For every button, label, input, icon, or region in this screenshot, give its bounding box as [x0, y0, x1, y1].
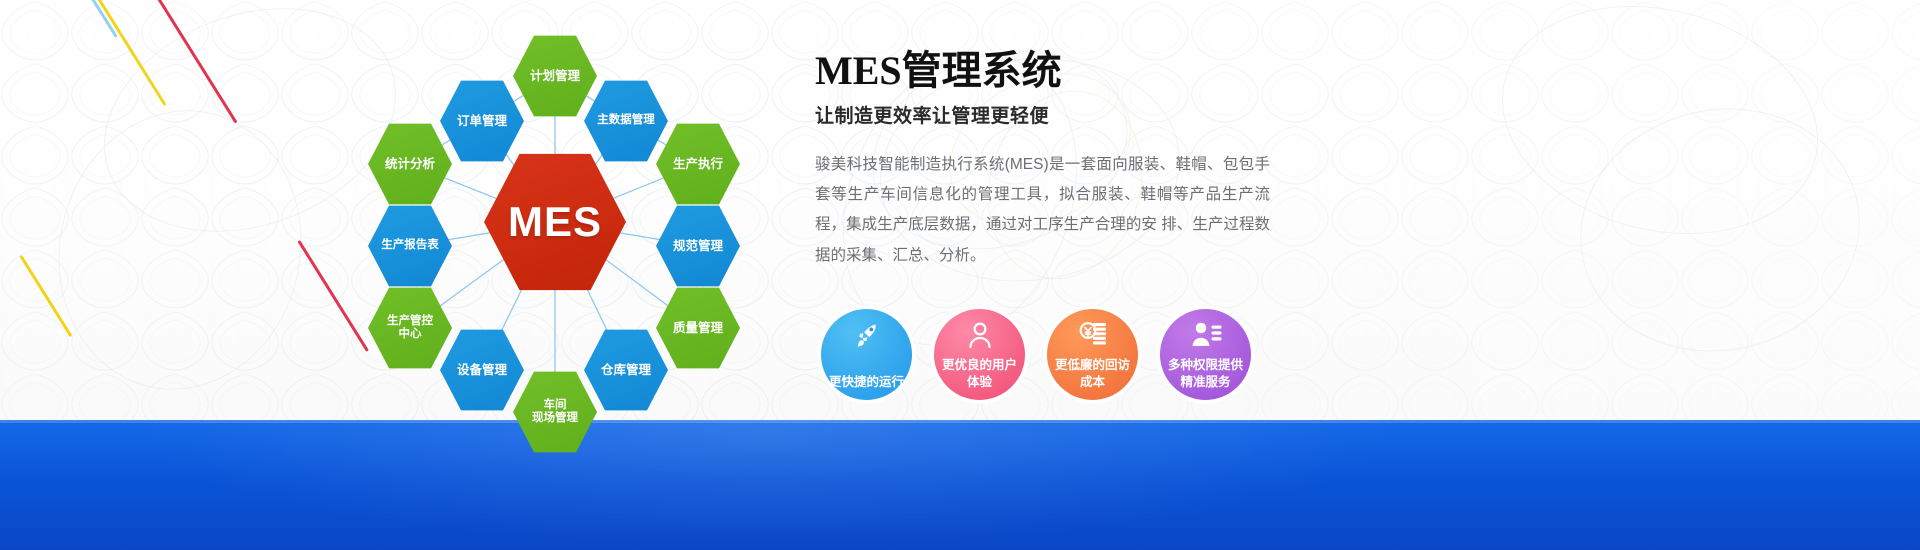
feature-badge-label: 更优良的用户 体验 [936, 357, 1024, 391]
bottom-blue-sheen [0, 420, 1920, 550]
page-description: 骏美科技智能制造执行系统(MES)是一套面向服装、鞋帽、包包手套等生产车间信息化… [815, 150, 1270, 271]
hex-center-label: MES [504, 198, 606, 246]
user-icon [964, 320, 996, 350]
hex-label: 仓库管理 [597, 363, 655, 377]
banner-text-column: MES管理系统 让制造更效率让管理更轻便 骏美科技智能制造执行系统(MES)是一… [815, 50, 1335, 271]
mes-hex-diagram: 计划管理 订单管理 主数据管理 统计分析 生产执行 生产报告表 规范管理 生产管… [330, 22, 780, 422]
feature-badge-list: 更快捷的运行 更优良的用户 体验 [818, 306, 1254, 403]
hex-label: 设备管理 [453, 363, 511, 377]
page-title: MES管理系统 [815, 50, 1335, 92]
hex-label: 订单管理 [453, 114, 511, 128]
hex-label: 生产执行 [669, 157, 727, 171]
page-subtitle: 让制造更效率让管理更轻便 [815, 101, 1335, 128]
hex-label: 统计分析 [381, 157, 439, 171]
feature-badge-cost[interactable]: 更低廉的回访 成本 [1044, 306, 1141, 403]
coins-icon [1077, 320, 1109, 350]
user-list-icon [1190, 320, 1222, 350]
hex-label: 质量管理 [669, 321, 727, 335]
hex-label: 车间 现场管理 [528, 399, 582, 425]
feature-badge-faster[interactable]: 更快捷的运行 [818, 306, 915, 403]
feature-badge-label: 多种权限提供 精准服务 [1162, 357, 1250, 391]
feature-badge-label: 更低廉的回访 成本 [1049, 357, 1137, 391]
hex-label: 生产管控 中心 [383, 315, 437, 341]
hex-label: 主数据管理 [593, 114, 659, 127]
hex-label: 生产报告表 [377, 239, 443, 252]
rocket-icon [851, 320, 883, 350]
hex-label: 规范管理 [669, 239, 727, 253]
hex-label: 计划管理 [526, 69, 584, 83]
feature-badge-permissions[interactable]: 多种权限提供 精准服务 [1157, 306, 1254, 403]
feature-badge-experience[interactable]: 更优良的用户 体验 [931, 306, 1028, 403]
feature-badge-label: 更快捷的运行 [823, 374, 911, 391]
banner-root: 计划管理 订单管理 主数据管理 统计分析 生产执行 生产报告表 规范管理 生产管… [0, 0, 1920, 550]
